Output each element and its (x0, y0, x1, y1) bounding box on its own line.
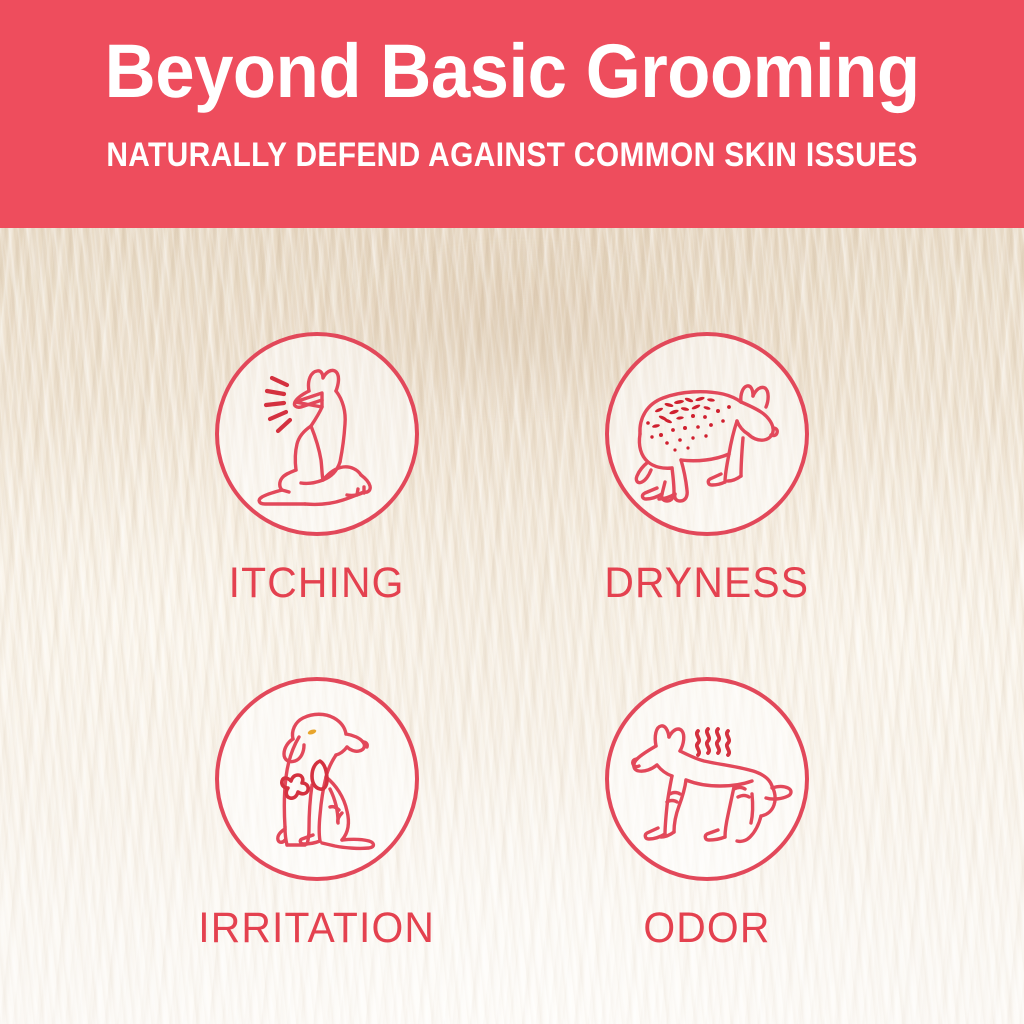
benefit-label-odor: ODOR (643, 907, 770, 950)
dog-scratching-icon (227, 344, 407, 524)
header-banner: Beyond Basic Grooming NATURALLY DEFEND A… (0, 0, 1024, 228)
icon-circle-odor (605, 677, 809, 881)
benefit-item-irritation[interactable]: IRRITATION (107, 677, 527, 950)
benefits-grid: ITCHING (0, 228, 1024, 1024)
page-title: Beyond Basic Grooming (105, 34, 920, 110)
dog-odor-waves-icon (612, 684, 802, 874)
icon-circle-irritation (215, 677, 419, 881)
benefit-label-dryness: DRYNESS (605, 562, 810, 605)
page-subtitle: NATURALLY DEFEND AGAINST COMMON SKIN ISS… (106, 138, 917, 172)
benefit-label-irritation: IRRITATION (199, 907, 436, 950)
flea-accent (307, 729, 317, 736)
dog-flaky-skin-icon (615, 342, 799, 526)
benefit-item-itching[interactable]: ITCHING (107, 332, 527, 605)
benefit-label-itching: ITCHING (229, 562, 405, 605)
benefit-item-dryness[interactable]: DRYNESS (497, 332, 917, 605)
poster-root: Beyond Basic Grooming NATURALLY DEFEND A… (0, 0, 1024, 1024)
icon-circle-dryness (605, 332, 809, 536)
icon-circle-itching (215, 332, 419, 536)
benefit-item-odor[interactable]: ODOR (497, 677, 917, 950)
dog-irritated-patch-icon (227, 689, 407, 869)
